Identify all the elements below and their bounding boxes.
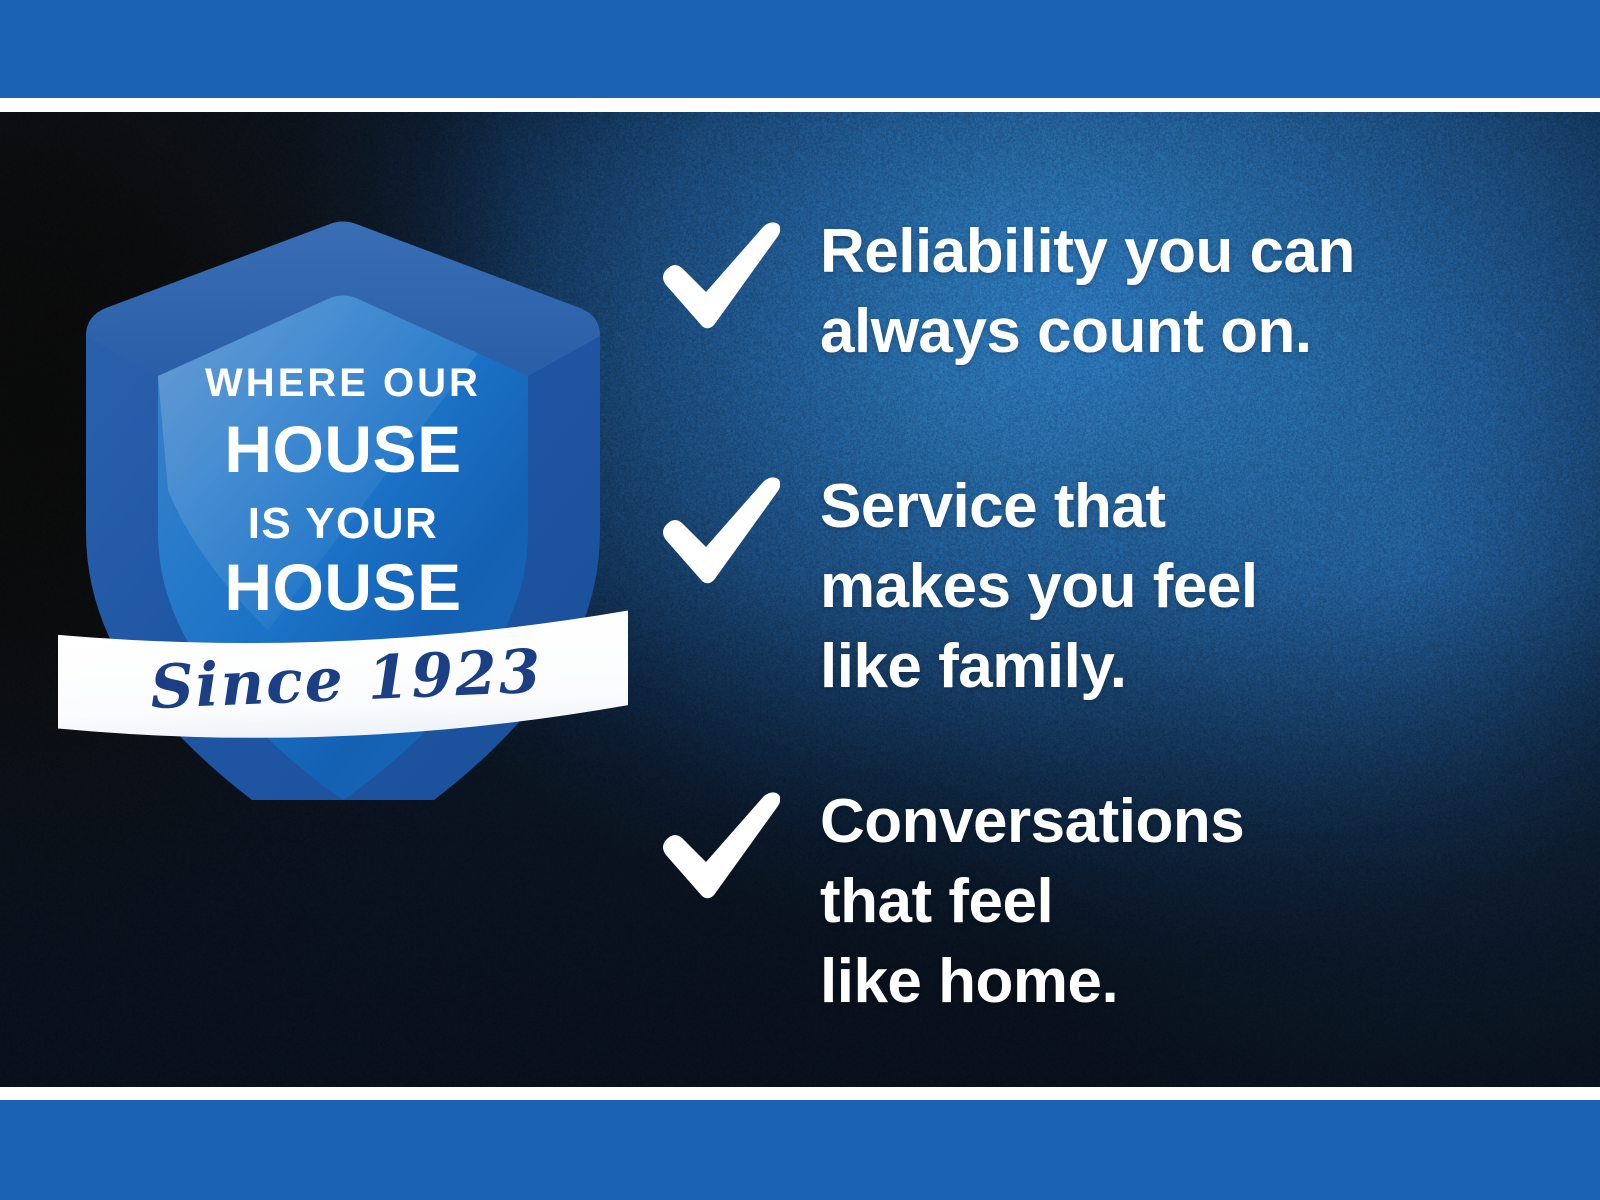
benefit-text: Reliability you can always count on. xyxy=(820,212,1580,372)
shield-line-2: IS YOUR xyxy=(248,499,439,548)
shield-line-1: HOUSE xyxy=(224,412,461,486)
check-icon xyxy=(660,782,820,900)
bottom-brand-bar xyxy=(0,1100,1600,1200)
top-brand-bar xyxy=(0,0,1600,98)
check-icon xyxy=(660,467,820,585)
benefits-list: Reliability you can always count on. Ser… xyxy=(660,112,1580,1087)
shield-line-0: WHERE OUR xyxy=(205,361,481,405)
benefit-item: Conversations that feel like home. xyxy=(660,782,1580,1022)
shield-badge: WHERE OUR HOUSE IS YOUR HOUSE Since 1923 xyxy=(58,160,628,800)
benefit-text: Conversations that feel like home. xyxy=(820,782,1580,1022)
benefit-text: Service that makes you feel like family. xyxy=(820,467,1580,707)
check-icon xyxy=(660,212,820,330)
shield-line-3: HOUSE xyxy=(224,550,461,624)
promotional-banner: WHERE OUR HOUSE IS YOUR HOUSE Since 1923… xyxy=(0,0,1600,1200)
benefit-item: Reliability you can always count on. xyxy=(660,212,1580,372)
benefit-item: Service that makes you feel like family. xyxy=(660,467,1580,707)
